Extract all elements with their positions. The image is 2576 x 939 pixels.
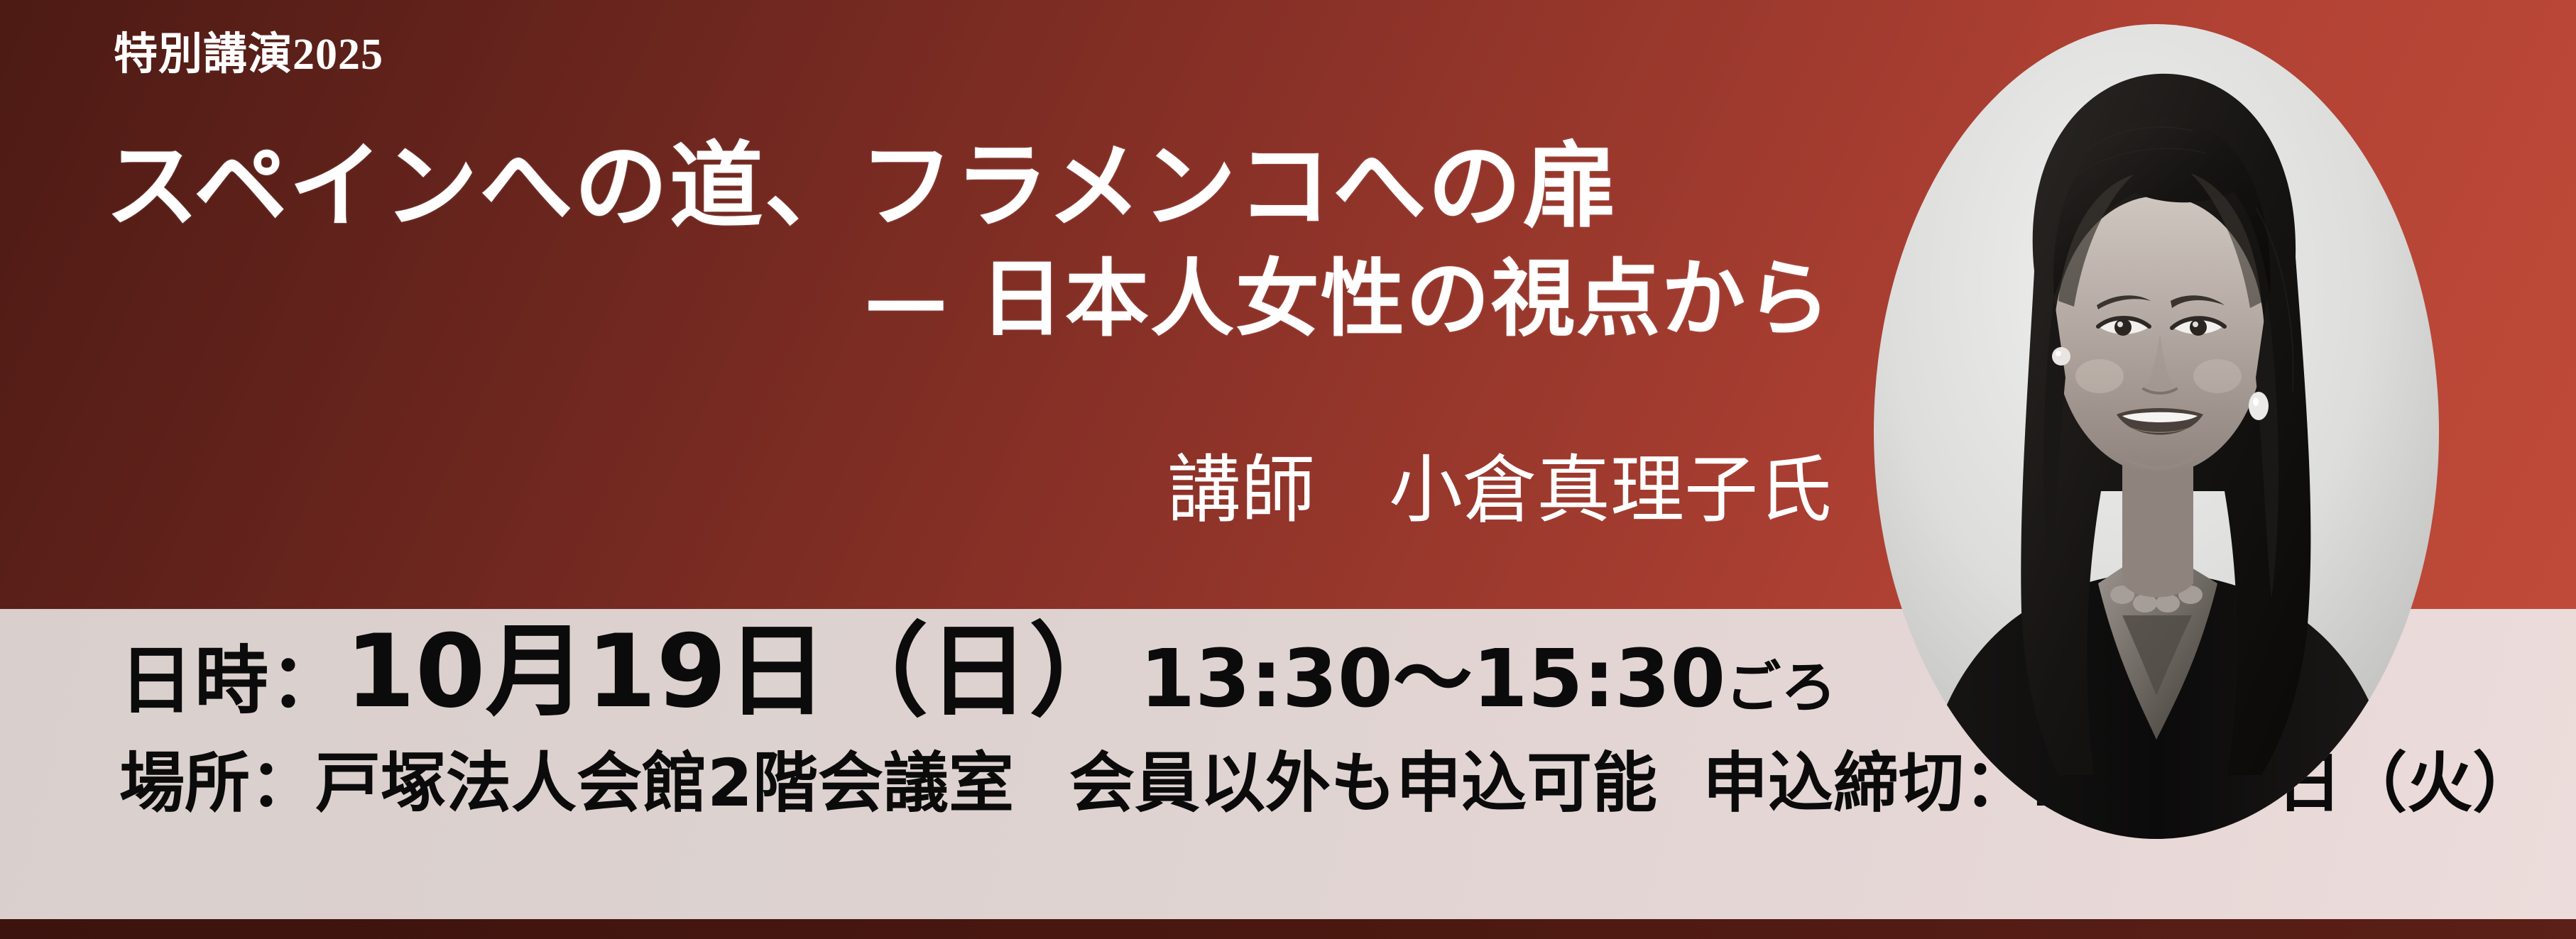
portrait-svg — [1872, 23, 2440, 840]
title-line-subtitle: — 日本人女性の視点から — [0, 235, 1917, 341]
title-line-primary: スペインへの道、フラメンコへの扉 — [0, 139, 1917, 235]
venue-label: 場所： — [119, 751, 315, 816]
title-block: スペインへの道、フラメンコへの扉 — 日本人女性の視点から — [0, 139, 1917, 341]
bottom-accent-bar — [0, 919, 2576, 939]
time-value: 13:30〜15:30 — [1130, 639, 1725, 719]
time-suffix: ごろ — [1725, 660, 1836, 715]
datetime-label: 日時： — [119, 644, 345, 718]
date-value: 10月19日（日） — [345, 622, 1130, 723]
portrait-content — [1872, 23, 2440, 840]
eligibility-note: 会員以外も申込可能 — [1069, 751, 1657, 816]
datetime-row: 日時： 10月19日（日） 13:30〜15:30 ごろ — [119, 622, 1836, 723]
eyebrow-label: 特別講演2025 — [114, 33, 383, 77]
speaker-portrait — [1872, 23, 2440, 840]
venue-value: 戸塚法人会館2階会議室 — [315, 751, 1014, 816]
speaker-name: 講師 小倉真理子氏 — [0, 453, 1874, 527]
seminar-banner: 特別講演2025 スペインへの道、フラメンコへの扉 — 日本人女性の視点から 講… — [0, 0, 2576, 939]
